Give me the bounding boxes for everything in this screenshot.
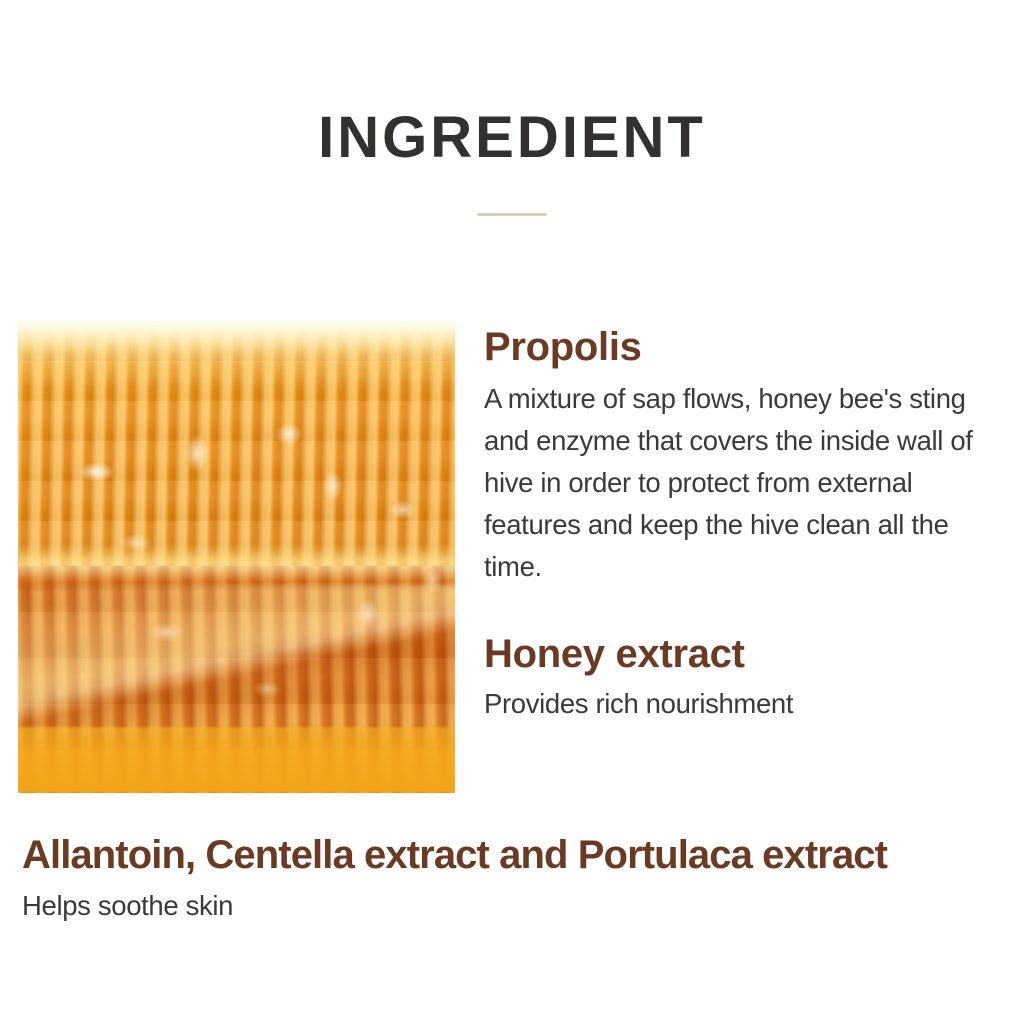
ingredient-list: Propolis A mixture of sap flows, honey b… — [484, 325, 1008, 725]
honeycomb-photo — [18, 321, 455, 793]
page-title: INGREDIENT — [0, 108, 1024, 169]
ingredient-description: Provides rich nourishment — [484, 683, 1008, 725]
ingredient-page: INGREDIENT Propolis A mixture of sap flo… — [0, 0, 1024, 1024]
ingredient-name: Propolis — [484, 325, 1008, 370]
title-divider — [477, 213, 547, 216]
honey-gloss-highlights — [18, 321, 455, 793]
ingredient-description: Helps soothe skin — [22, 885, 1012, 926]
ingredient-name: Allantoin, Centella extract and Portulac… — [22, 832, 1012, 878]
ingredient-item-propolis: Propolis A mixture of sap flows, honey b… — [484, 325, 1008, 588]
ingredient-item-honey-extract: Honey extract Provides rich nourishment — [484, 632, 1008, 725]
ingredient-description: A mixture of sap flows, honey bee's stin… — [484, 378, 1008, 588]
ingredient-name: Honey extract — [484, 632, 1008, 677]
ingredient-item-soothing: Allantoin, Centella extract and Portulac… — [22, 832, 1012, 926]
